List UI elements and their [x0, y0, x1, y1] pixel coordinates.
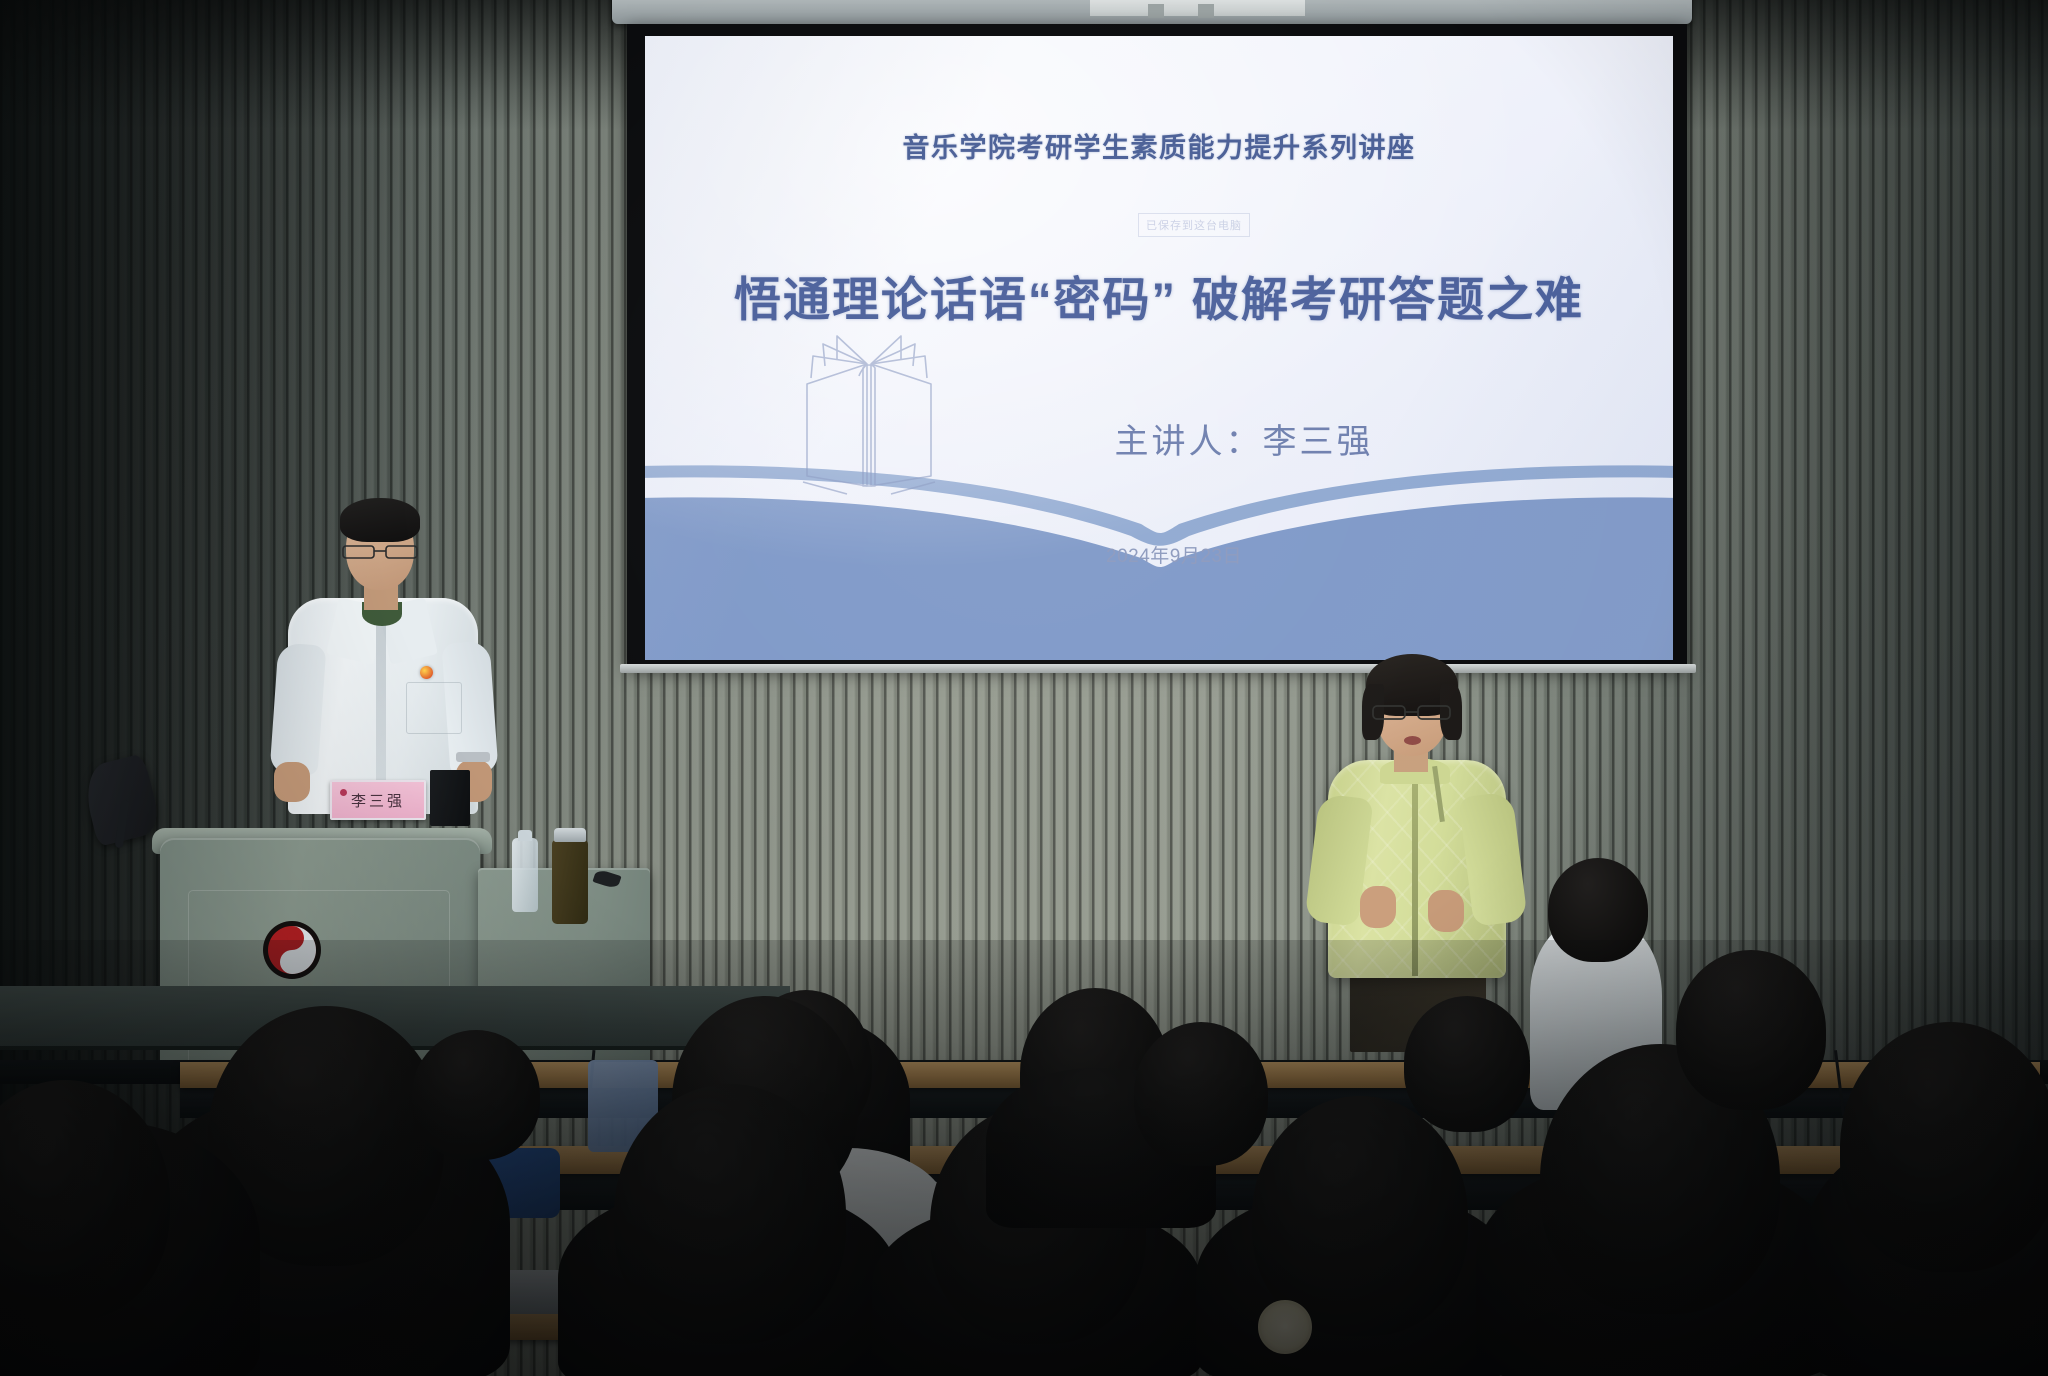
projection-screen: 音乐学院考研学生素质能力提升系列讲座 已保存到这台电脑 悟通理论话语“密码” 破… — [645, 36, 1673, 660]
man-hair — [340, 498, 420, 542]
list-item — [1134, 1022, 1268, 1166]
man-left-arm — [270, 642, 327, 775]
water-bottle-cap — [518, 830, 532, 841]
party-badge-icon — [420, 666, 433, 679]
woman-left-hand — [1360, 886, 1396, 928]
eyeglasses-icon — [1372, 704, 1452, 721]
wristwatch — [456, 752, 490, 762]
list-item — [614, 1084, 846, 1344]
podium-laptop — [430, 770, 470, 826]
water-bottle — [512, 838, 538, 912]
speaker-woman: L — [1300, 648, 1530, 1048]
nameplate-text: 李三强 — [351, 790, 405, 811]
slide-title: 悟通理论话语“密码” 破解考研答题之难 — [645, 261, 1673, 330]
list-item — [1676, 950, 1826, 1110]
woman-mouth — [1404, 736, 1421, 745]
ceiling-vent-slot — [1148, 4, 1164, 18]
slide-speaker-line: 主讲人：李三强 — [645, 414, 1673, 463]
lecture-hall-photo: 音乐学院考研学生素质能力提升系列讲座 已保存到这台电脑 悟通理论话语“密码” 破… — [0, 0, 2048, 1376]
man-shirt-pocket — [406, 682, 462, 734]
university-emblem-icon — [262, 920, 322, 980]
woman-right-hand — [1428, 890, 1464, 932]
tea-bottle — [552, 840, 588, 924]
slide-watermark: 已保存到这台电脑 — [1138, 213, 1250, 237]
woman-jacket-zipper — [1412, 778, 1418, 976]
man-left-hand — [274, 762, 310, 802]
list-item — [1840, 1022, 2048, 1272]
screen-weight-bar — [620, 664, 1696, 673]
tea-bottle-cap — [554, 828, 586, 842]
handheld-fan — [1258, 1300, 1312, 1354]
nameplate-logo-dot — [340, 789, 347, 796]
ceiling-vent-slot — [1198, 4, 1214, 18]
eyeglasses-icon — [342, 544, 418, 559]
list-item — [1404, 996, 1530, 1132]
list-item — [1548, 858, 1648, 962]
slide-subtitle: 音乐学院考研学生素质能力提升系列讲座 — [645, 126, 1673, 165]
list-item — [412, 1030, 540, 1160]
podium-nameplate: 李三强 — [330, 780, 426, 820]
slide-date: 2024年9月23日 — [645, 541, 1673, 568]
